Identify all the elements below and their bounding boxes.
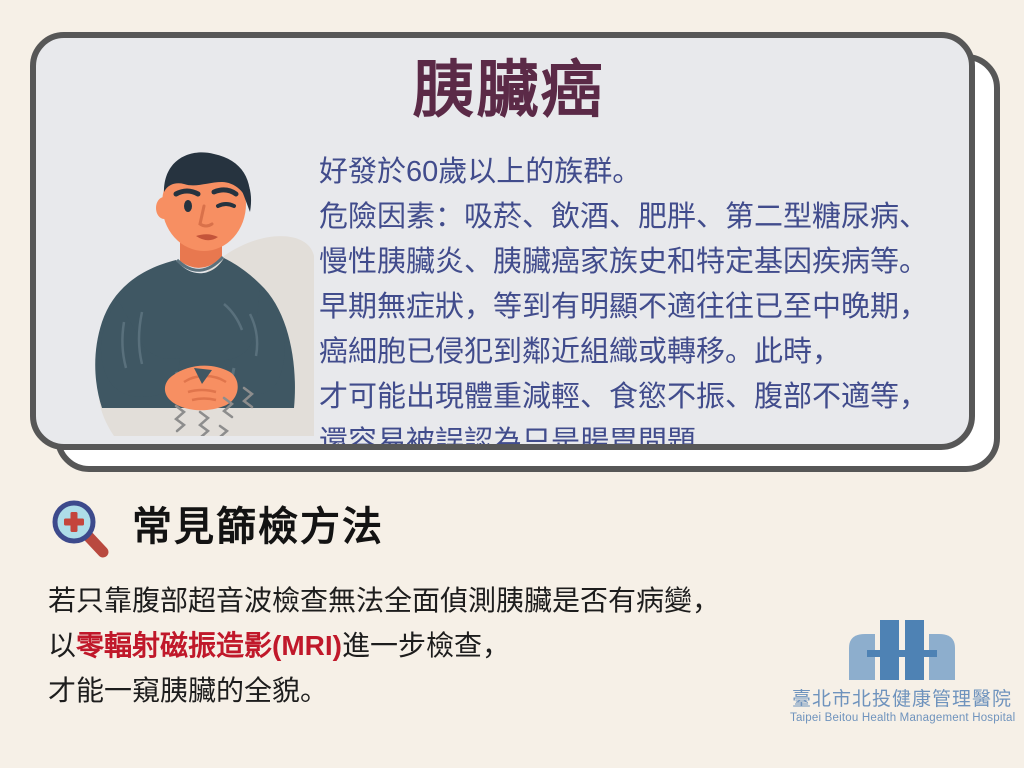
body-line: 好發於60歲以上的族群。 bbox=[319, 150, 969, 195]
info-card: 胰臟癌 bbox=[30, 32, 1000, 472]
screening-description: 若只靠腹部超音波檢查無法全面偵測胰臟是否有病變， 以零輻射磁振造影(MRI)進一… bbox=[48, 578, 788, 713]
body-line: 慢性胰臟炎、胰臟癌家族史和特定基因疾病等。 bbox=[319, 240, 969, 285]
hospital-logo-mark-icon bbox=[790, 618, 1014, 680]
section-title: 常見篩檢方法 bbox=[132, 507, 384, 547]
screening-section-header: 常見篩檢方法 bbox=[48, 496, 384, 558]
bottom-line-1: 若只靠腹部超音波檢查無法全面偵測胰臟是否有病變， bbox=[48, 578, 788, 623]
hospital-name-en: Taipei Beitou Health Management Hospital bbox=[790, 712, 1014, 724]
card-main-panel: 胰臟癌 bbox=[30, 32, 975, 450]
hospital-name-zh: 臺北市北投健康管理醫院 bbox=[790, 684, 1014, 711]
bottom-line-3: 才能一窺胰臟的全貌。 bbox=[48, 668, 788, 713]
body-line: 早期無症狀，等到有明顯不適往往已至中晚期， bbox=[319, 285, 969, 330]
hospital-logo: 臺北市北投健康管理醫院 Taipei Beitou Health Managem… bbox=[790, 618, 1014, 724]
magnifier-plus-icon bbox=[48, 496, 110, 558]
bottom-line-2-prefix: 以 bbox=[48, 630, 76, 661]
body-line: 還容易被誤認為只是腸胃問題。 bbox=[319, 420, 969, 450]
body-line: 才可能出現體重減輕、食慾不振、腹部不適等， bbox=[319, 375, 969, 420]
body-line: 癌細胞已侵犯到鄰近組織或轉移。此時， bbox=[319, 330, 969, 375]
page-title: 胰臟癌 bbox=[36, 60, 975, 122]
illustration-man-stomach-pain bbox=[84, 136, 314, 436]
bottom-line-2-suffix: 進一步檢查， bbox=[342, 630, 510, 661]
mri-highlight: 零輻射磁振造影(MRI) bbox=[76, 630, 342, 661]
card-body-text: 好發於60歲以上的族群。 危險因素：吸菸、飲酒、肥胖、第二型糖尿病、 慢性胰臟炎… bbox=[319, 150, 969, 450]
bottom-line-2: 以零輻射磁振造影(MRI)進一步檢查， bbox=[48, 623, 788, 668]
body-line: 危險因素：吸菸、飲酒、肥胖、第二型糖尿病、 bbox=[319, 195, 969, 240]
